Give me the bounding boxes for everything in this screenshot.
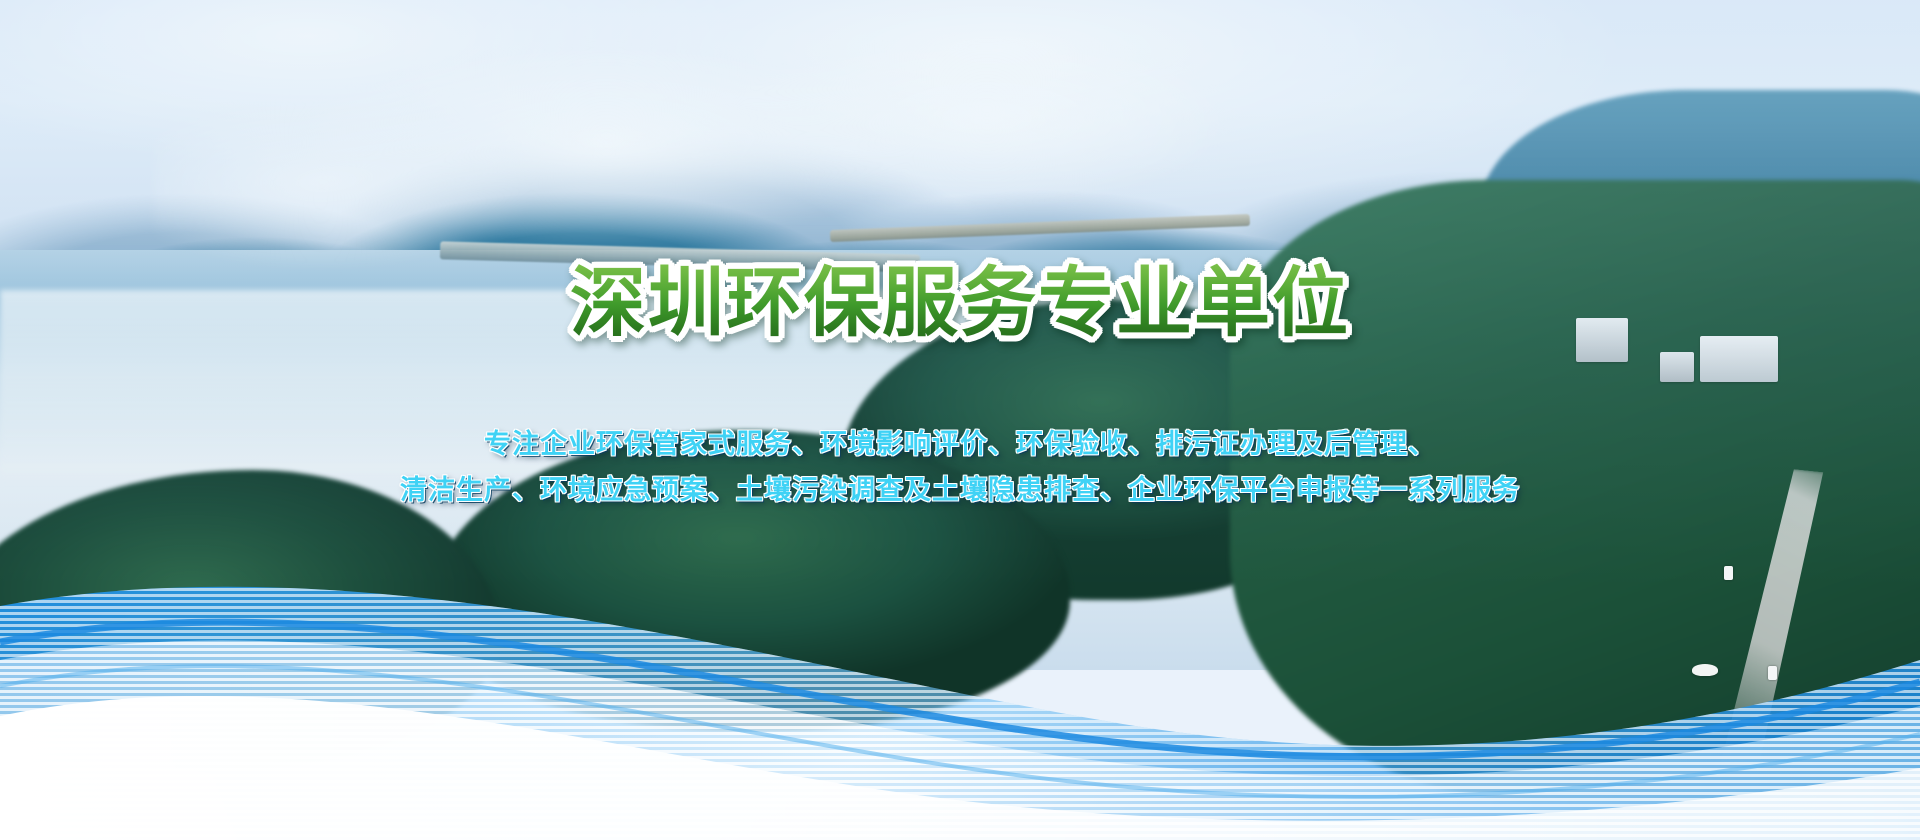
white-boat [1692,664,1718,676]
car-icon [1768,666,1777,680]
car-icon [1724,566,1733,580]
hillside-building-3 [1660,352,1694,382]
fog-veil [154,40,1344,300]
hillside-building-2 [1700,336,1778,382]
hero-banner: 深圳环保服务专业单位 专注企业环保管家式服务、环境影响评价、环保验收、排污证办理… [0,0,1920,840]
landscape-photo [0,0,1920,840]
hillside-building-1 [1576,318,1628,362]
